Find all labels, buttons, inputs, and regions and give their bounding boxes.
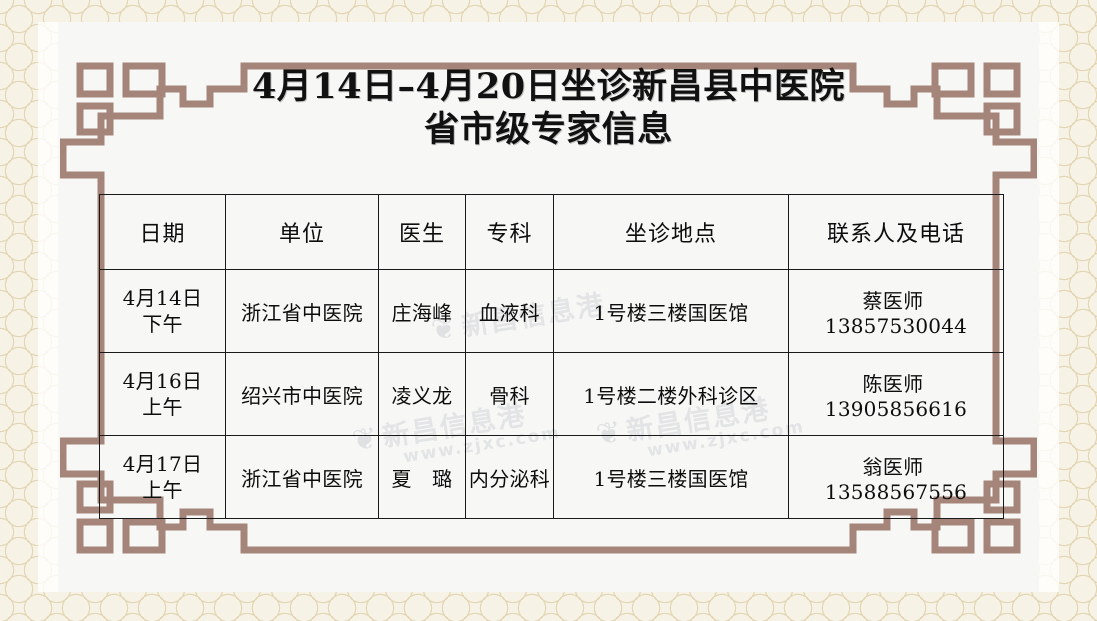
title-line-2: 省市级专家信息 <box>0 109 1097 152</box>
column-header-date: 日期 <box>100 195 226 270</box>
cell-date-day: 4月14日 <box>123 286 203 310</box>
cell-date-half: 上午 <box>102 477 223 503</box>
cell-place: 1号楼二楼外科诊区 <box>554 353 789 436</box>
cell-contact-phone: 13857530044 <box>825 314 967 338</box>
table-row: 4月16日 上午 绍兴市中医院 凌义龙 骨科 1号楼二楼外科诊区 陈医师 139… <box>100 353 1004 436</box>
column-header-doctor: 医生 <box>379 195 466 270</box>
cell-contact: 陈医师 13905856616 <box>789 353 1004 436</box>
cell-date-half: 下午 <box>102 311 223 337</box>
cell-date: 4月16日 上午 <box>100 353 226 436</box>
column-header-unit: 单位 <box>226 195 379 270</box>
cell-date-day: 4月17日 <box>123 452 203 476</box>
cell-date-half: 上午 <box>102 394 223 420</box>
cell-department: 血液科 <box>466 270 554 353</box>
cell-place: 1号楼三楼国医馆 <box>554 270 789 353</box>
title-line-1: 4月14日–4月20日坐诊新昌县中医院 <box>0 66 1097 109</box>
cell-contact-phone: 13588567556 <box>825 480 967 504</box>
column-header-contact: 联系人及电话 <box>789 195 1004 270</box>
poster-canvas: 4月14日–4月20日坐诊新昌县中医院 省市级专家信息 ❦ 新昌信息港 www.… <box>0 0 1097 621</box>
table-header-row: 日期 单位 医生 专科 坐诊地点 联系人及电话 <box>100 195 1004 270</box>
column-header-department: 专科 <box>466 195 554 270</box>
expert-schedule-table: 日期 单位 医生 专科 坐诊地点 联系人及电话 4月14日 下午 浙江省中医院 … <box>99 194 1004 519</box>
cell-contact-name: 陈医师 <box>863 372 924 396</box>
cell-place: 1号楼三楼国医馆 <box>554 436 789 519</box>
cell-contact: 蔡医师 13857530044 <box>789 270 1004 353</box>
cell-contact-phone: 13905856616 <box>825 397 967 421</box>
table-row: 4月17日 上午 浙江省中医院 夏 璐 内分泌科 1号楼三楼国医馆 翁医师 13… <box>100 436 1004 519</box>
cell-doctor: 凌义龙 <box>379 353 466 436</box>
cell-date: 4月14日 下午 <box>100 270 226 353</box>
cell-contact-name: 蔡医师 <box>863 289 924 313</box>
cell-unit: 绍兴市中医院 <box>226 353 379 436</box>
cell-contact: 翁医师 13588567556 <box>789 436 1004 519</box>
cell-unit: 浙江省中医院 <box>226 270 379 353</box>
cell-contact-name: 翁医师 <box>863 455 924 479</box>
cell-unit: 浙江省中医院 <box>226 436 379 519</box>
column-header-place: 坐诊地点 <box>554 195 789 270</box>
cell-date-day: 4月16日 <box>123 369 203 393</box>
cell-doctor: 夏 璐 <box>379 436 466 519</box>
cell-doctor: 庄海峰 <box>379 270 466 353</box>
page-title: 4月14日–4月20日坐诊新昌县中医院 省市级专家信息 <box>0 66 1097 151</box>
table-row: 4月14日 下午 浙江省中医院 庄海峰 血液科 1号楼三楼国医馆 蔡医师 138… <box>100 270 1004 353</box>
cell-date: 4月17日 上午 <box>100 436 226 519</box>
cell-department: 内分泌科 <box>466 436 554 519</box>
cell-department: 骨科 <box>466 353 554 436</box>
